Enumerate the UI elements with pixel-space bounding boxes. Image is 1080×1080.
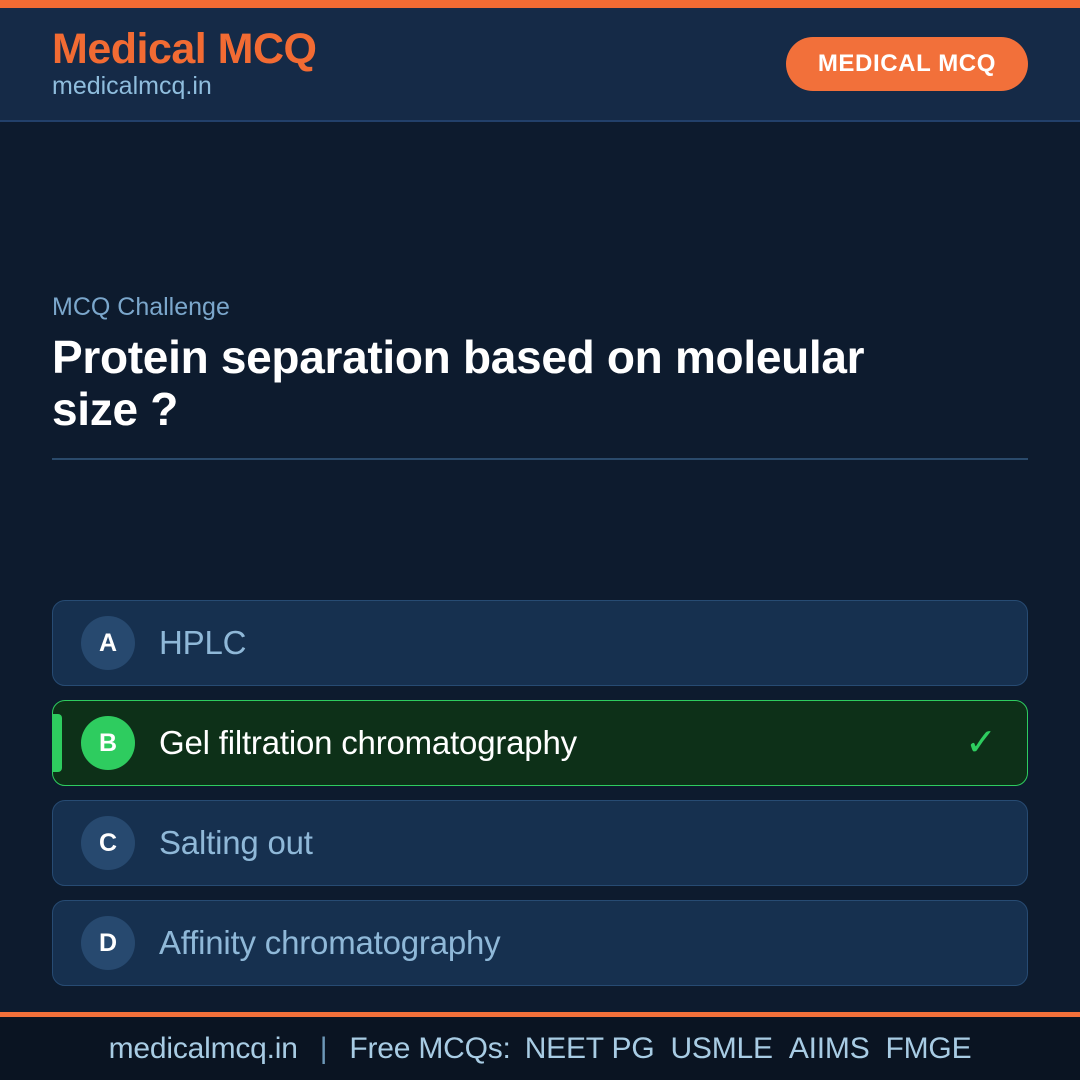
- footer-exam-neet-pg[interactable]: NEET PG: [525, 1032, 655, 1066]
- footer-exam-usmle[interactable]: USMLE: [670, 1032, 772, 1066]
- option-text-a: HPLC: [159, 625, 961, 661]
- brand-badge: MEDICAL MCQ: [786, 37, 1028, 91]
- footer-text: medicalmcq.in | Free MCQs: NEET PG USMLE…: [109, 1032, 972, 1066]
- main-content: MCQ Challenge Protein separation based o…: [0, 122, 1080, 1012]
- question-block: MCQ Challenge Protein separation based o…: [52, 294, 1028, 460]
- correct-accent-bar: [53, 714, 62, 772]
- footer-exam-aiims[interactable]: AIIMS: [789, 1032, 870, 1066]
- option-row-a[interactable]: A HPLC ✓: [52, 600, 1028, 686]
- option-letter-c: C: [81, 816, 135, 870]
- mcq-card: Medical MCQ medicalmcq.in MEDICAL MCQ MC…: [0, 0, 1080, 1080]
- option-text-c: Salting out: [159, 825, 961, 861]
- footer: medicalmcq.in | Free MCQs: NEET PG USMLE…: [0, 1012, 1080, 1080]
- option-text-b: Gel filtration chromatography: [159, 725, 961, 761]
- option-letter-b: B: [81, 716, 135, 770]
- option-row-c[interactable]: C Salting out ✓: [52, 800, 1028, 886]
- header: Medical MCQ medicalmcq.in MEDICAL MCQ: [0, 8, 1080, 122]
- option-letter-d: D: [81, 916, 135, 970]
- question-kicker: MCQ Challenge: [52, 294, 1028, 322]
- option-row-d[interactable]: D Affinity chromatography ✓: [52, 900, 1028, 986]
- footer-exam-fmge[interactable]: FMGE: [886, 1032, 972, 1066]
- options-list: A HPLC ✓ B Gel filtration chromatography…: [52, 600, 1028, 986]
- check-icon-b: ✓: [961, 724, 1001, 762]
- question-divider: [52, 458, 1028, 460]
- option-text-d: Affinity chromatography: [159, 925, 961, 961]
- brand-title: Medical MCQ: [52, 28, 317, 71]
- footer-website[interactable]: medicalmcq.in: [109, 1032, 298, 1066]
- brand-website: medicalmcq.in: [52, 73, 317, 101]
- footer-separator: |: [320, 1032, 328, 1066]
- option-letter-a: A: [81, 616, 135, 670]
- option-row-b[interactable]: B Gel filtration chromatography ✓: [52, 700, 1028, 786]
- question-text: Protein separation based on moleular siz…: [52, 331, 912, 436]
- footer-label: Free MCQs:: [349, 1032, 510, 1066]
- top-accent-bar: [0, 0, 1080, 8]
- brand-block: Medical MCQ medicalmcq.in: [52, 28, 317, 101]
